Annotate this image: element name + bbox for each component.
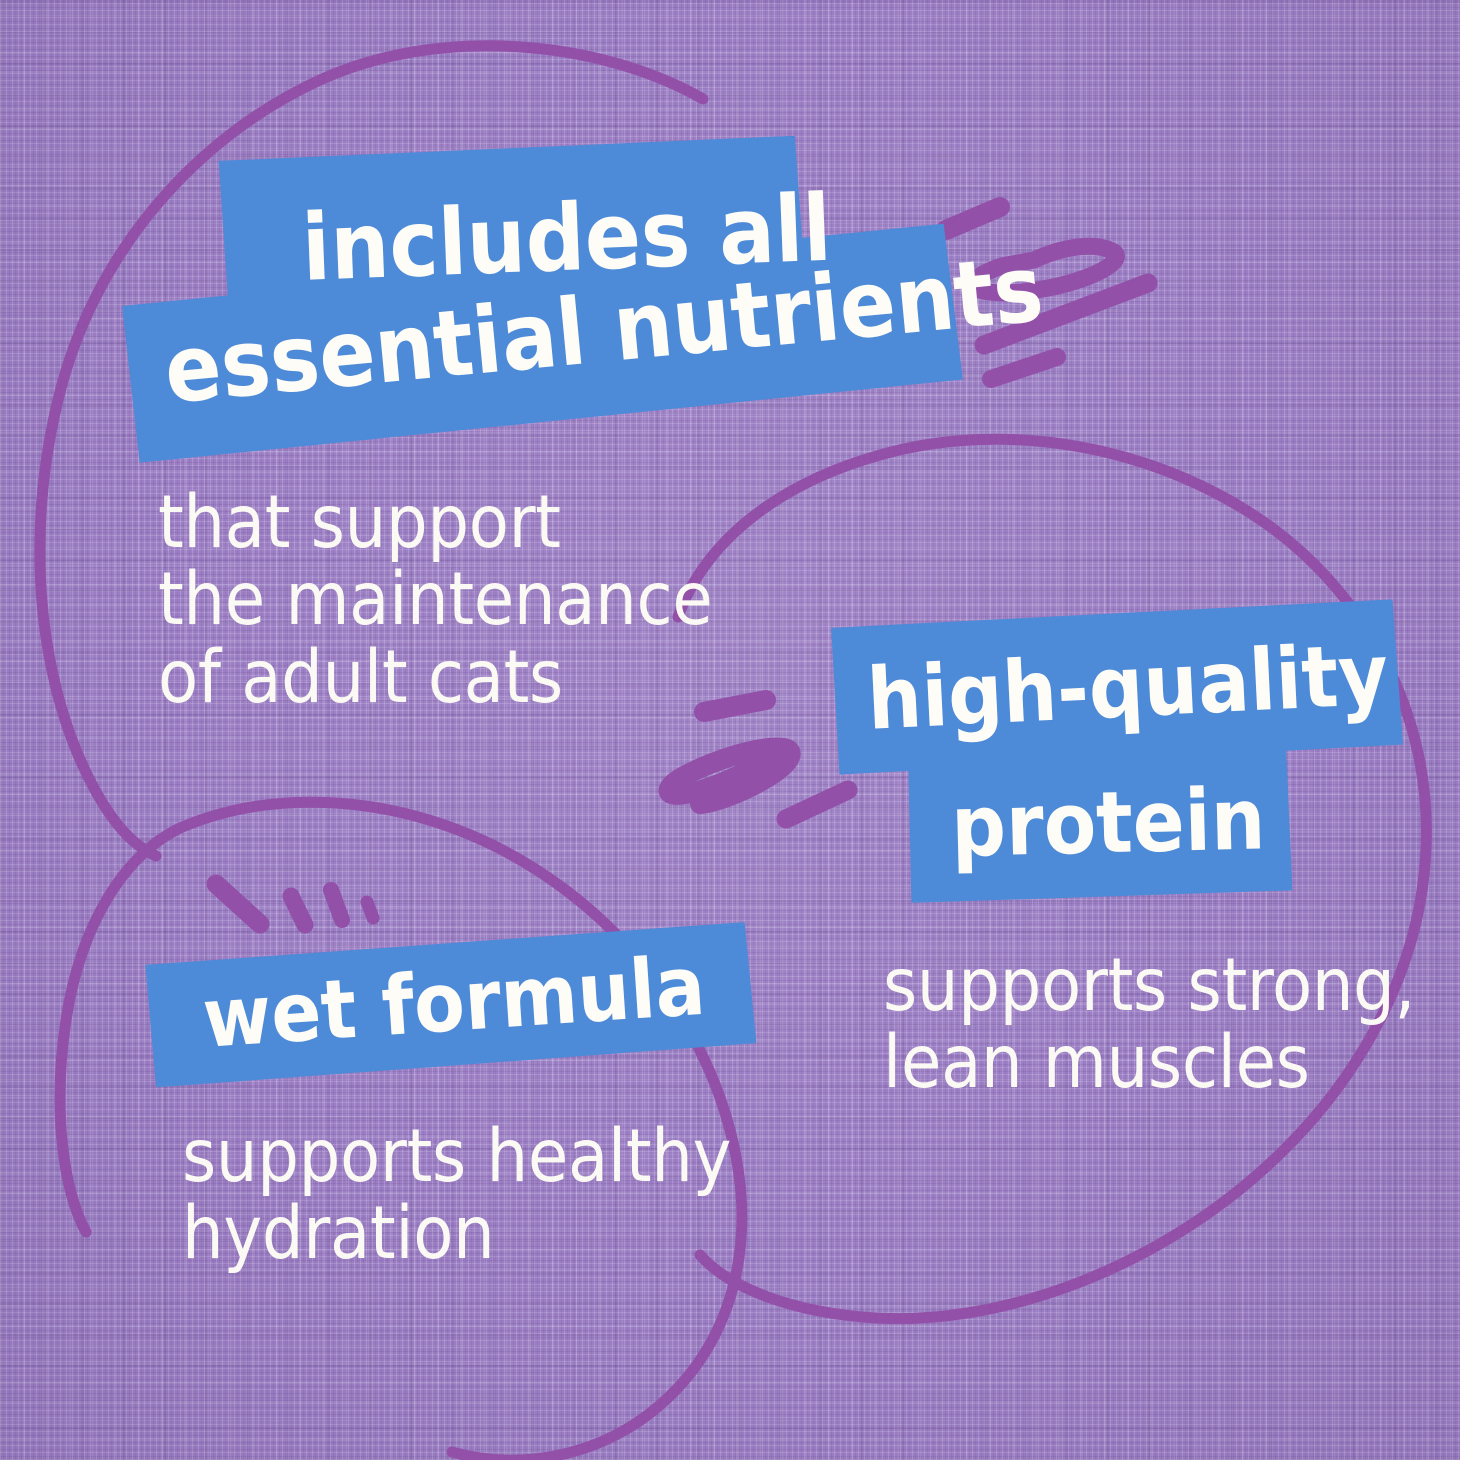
wet-formula-tick-marks: [216, 884, 373, 925]
protein-scribble-lines: [668, 700, 848, 819]
banner-line-protein: protein: [950, 770, 1266, 877]
benefit-body-wet-formula: supports healthy hydration: [182, 1118, 731, 1273]
benefit-body-essential-nutrients: that support the maintenance of adult ca…: [158, 484, 712, 716]
benefit-body-high-quality-protein: supports strong, lean muscles: [883, 947, 1415, 1102]
product-benefits-graphic: includes all essential nutrients that su…: [0, 0, 1460, 1460]
